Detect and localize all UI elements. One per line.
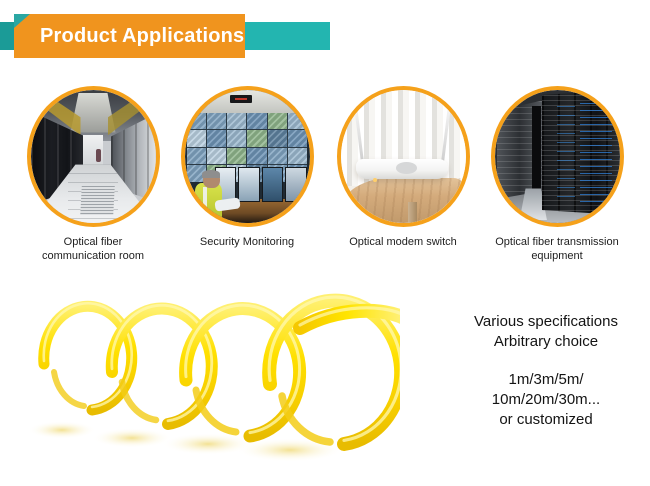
application-photo-circle — [27, 86, 160, 227]
application-card[interactable]: Optical fiber communication room — [18, 86, 168, 263]
application-photo-circle — [337, 86, 470, 227]
application-photo-circle — [491, 86, 624, 227]
specification-text-block: Various specifications Arbitrary choice … — [448, 312, 644, 430]
application-cards: Optical fiber communication room — [0, 86, 650, 266]
yellow-fiber-cable-coil — [0, 272, 400, 472]
optical-modem-router-photo — [341, 90, 466, 223]
application-card-label: Optical fiber transmission equipment — [482, 235, 632, 263]
coil-illustration — [0, 272, 400, 472]
server-racks-photo — [495, 90, 620, 223]
application-card[interactable]: Optical modem switch — [328, 86, 478, 249]
application-card[interactable]: Optical fiber transmission equipment — [482, 86, 632, 263]
application-card-label: Optical modem switch — [328, 235, 478, 249]
page-title: Product Applications — [40, 14, 244, 58]
application-photo-circle — [181, 86, 314, 227]
application-card-label: Security Monitoring — [172, 235, 322, 249]
security-control-room-photo — [185, 90, 310, 223]
page-header-banner: Product Applications — [0, 14, 330, 58]
application-card-label: Optical fiber communication room — [18, 235, 168, 263]
spec-length-options: 1m/3m/5m/ 10m/20m/30m... or customized — [448, 370, 644, 430]
application-card[interactable]: Security Monitoring — [172, 86, 322, 249]
spec-heading: Various specifications Arbitrary choice — [448, 312, 644, 352]
server-corridor-photo — [31, 90, 156, 223]
